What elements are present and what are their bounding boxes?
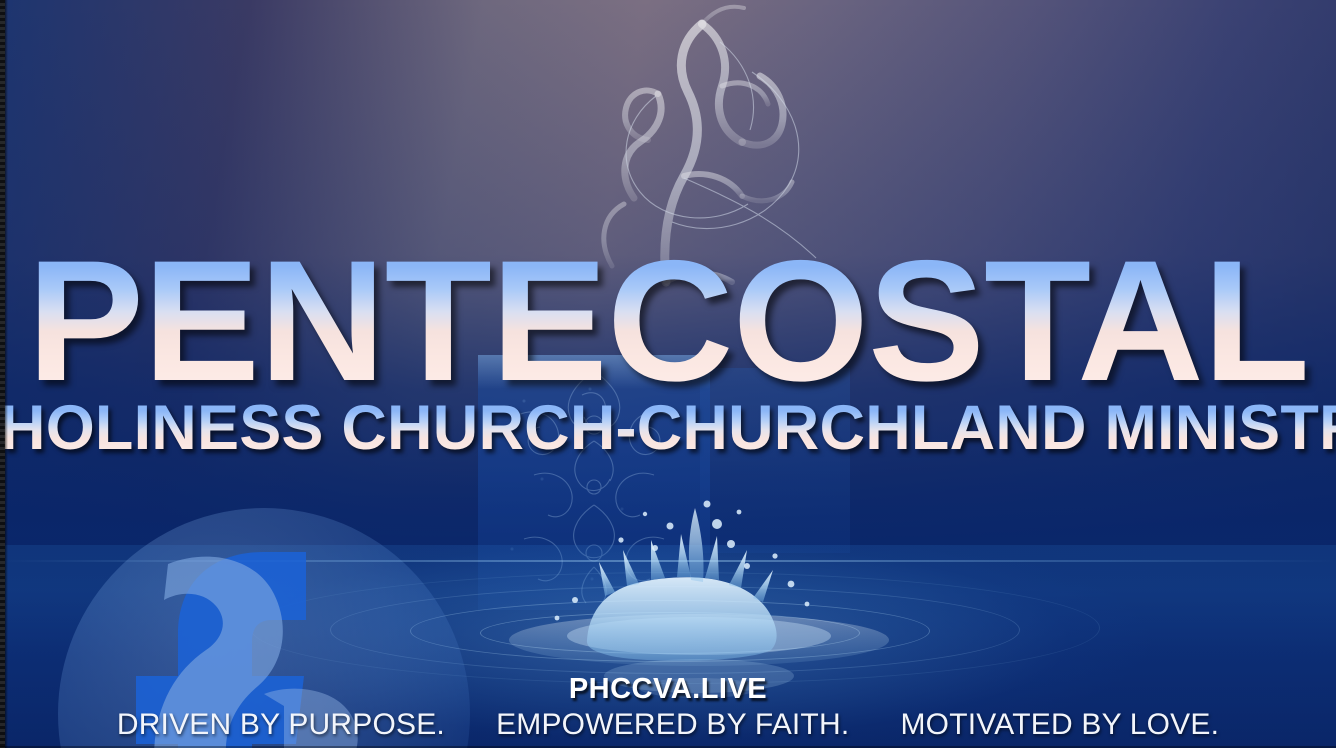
tagline: DRIVEN BY PURPOSE. EMPOWERED BY FAITH. M… — [0, 708, 1336, 742]
website-url[interactable]: PHCCVA.LIVE — [0, 673, 1336, 706]
smoke-flame-icon — [516, 0, 896, 290]
footer-block: PHCCVA.LIVE DRIVEN BY PURPOSE. EMPOWERED… — [0, 673, 1336, 742]
water-splash-icon — [455, 500, 935, 700]
tagline-part-driven: DRIVEN BY PURPOSE. — [117, 708, 445, 741]
tagline-part-empowered: EMPOWERED BY FAITH. — [496, 708, 849, 741]
banner-canvas: PENTECOSTAL HOLINESS CHURCH-CHURCHLAND M… — [0, 0, 1336, 748]
tagline-part-motivated: MOTIVATED BY LOVE. — [900, 708, 1219, 741]
left-edge-shadow — [5, 0, 8, 748]
